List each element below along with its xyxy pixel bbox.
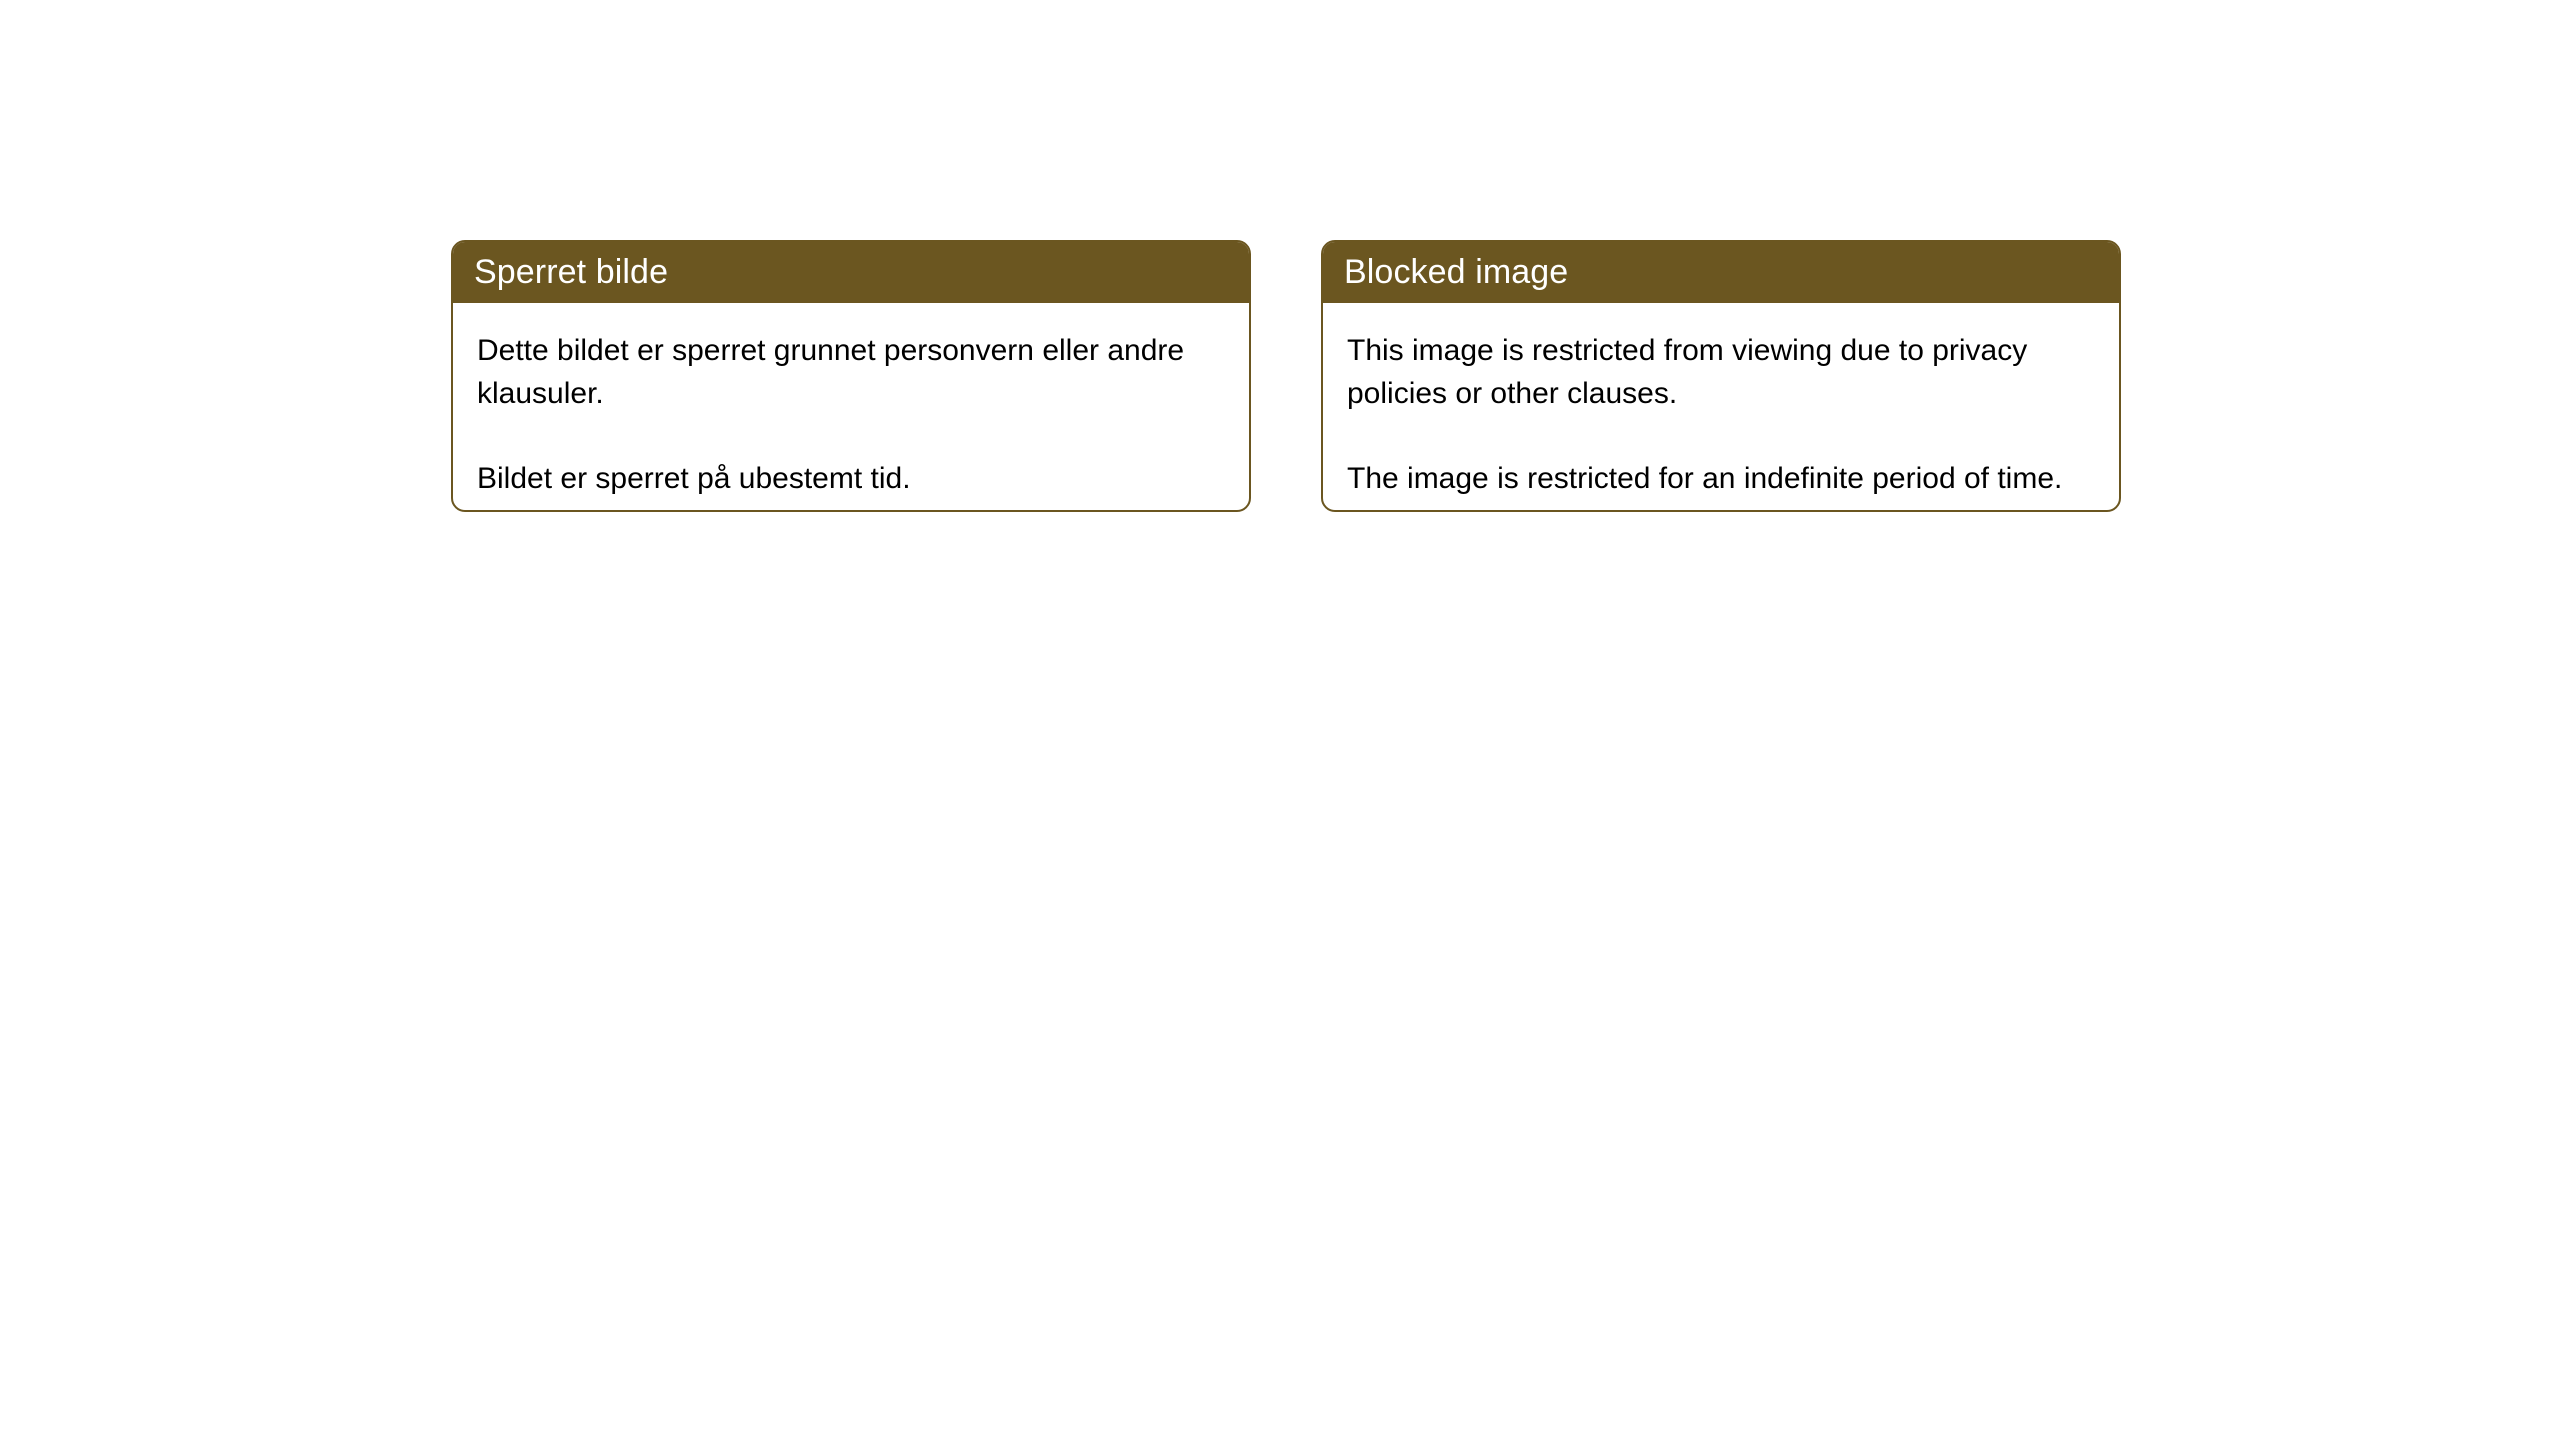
card-body-english: This image is restricted from viewing du… — [1323, 303, 2119, 510]
card-paragraph-primary-english: This image is restricted from viewing du… — [1347, 329, 2067, 415]
card-header-norwegian: Sperret bilde — [451, 240, 1251, 303]
card-title-english: Blocked image — [1344, 254, 1568, 290]
card-paragraph-secondary-english: The image is restricted for an indefinit… — [1347, 457, 2067, 500]
blocked-image-card-norwegian: Sperret bilde Dette bildet er sperret gr… — [451, 240, 1251, 512]
card-body-norwegian: Dette bildet er sperret grunnet personve… — [453, 303, 1249, 510]
card-title-norwegian: Sperret bilde — [474, 254, 668, 290]
card-paragraph-secondary-norwegian: Bildet er sperret på ubestemt tid. — [477, 457, 1197, 500]
page-root: Sperret bilde Dette bildet er sperret gr… — [0, 0, 2560, 1440]
card-header-english: Blocked image — [1321, 240, 2121, 303]
card-paragraph-primary-norwegian: Dette bildet er sperret grunnet personve… — [477, 329, 1197, 415]
blocked-image-card-english: Blocked image This image is restricted f… — [1321, 240, 2121, 512]
blocked-image-notice-row: Sperret bilde Dette bildet er sperret gr… — [451, 240, 2121, 512]
